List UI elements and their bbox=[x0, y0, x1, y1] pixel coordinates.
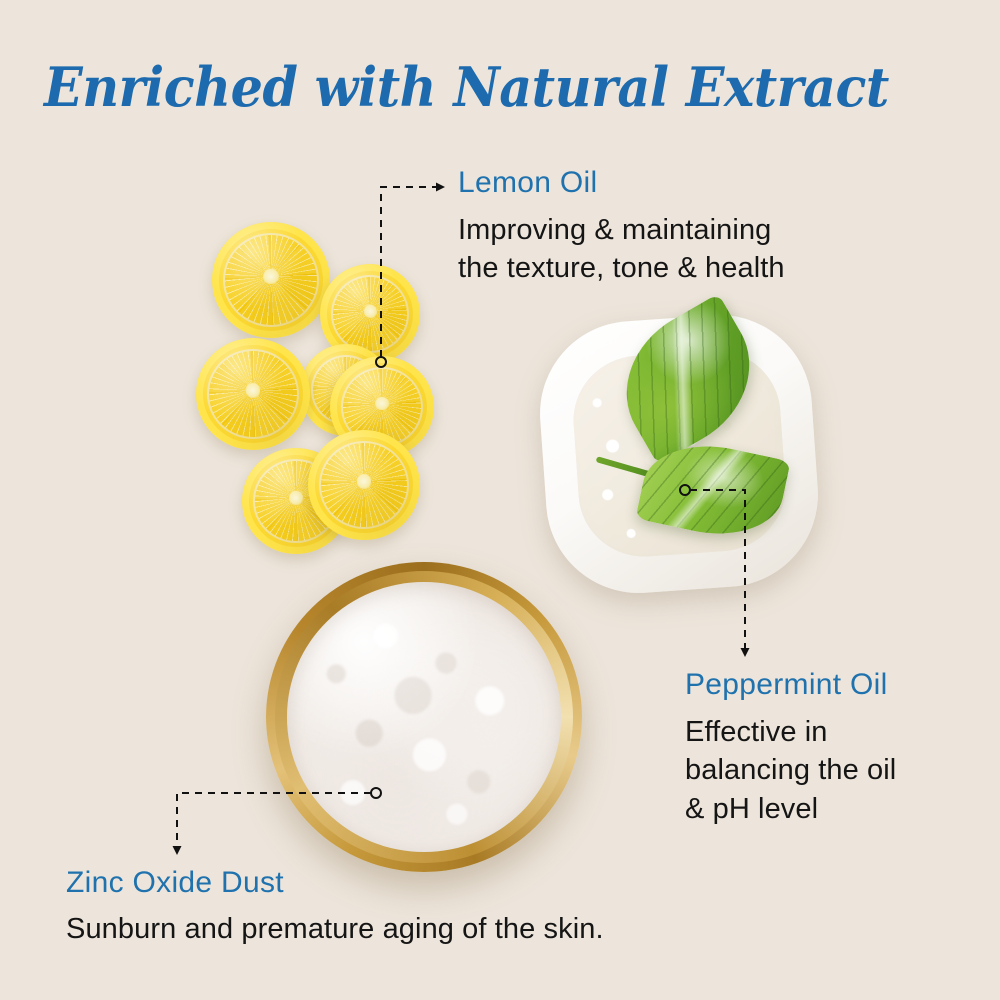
callout-body-line: balancing the oil bbox=[685, 751, 896, 789]
callout-body-line: & pH level bbox=[685, 790, 896, 828]
zinc-oxide-powder-bowl-image bbox=[266, 562, 582, 872]
callout-body-line: Effective in bbox=[685, 713, 896, 751]
callout-body-line: Improving & maintaining bbox=[458, 211, 785, 249]
callout-lemon-oil: Lemon Oil Improving & maintaining the te… bbox=[458, 166, 785, 288]
callout-zinc-oxide-dust: Zinc Oxide Dust Sunburn and premature ag… bbox=[66, 866, 604, 948]
page-title: Enriched with Natural Extract bbox=[44, 55, 758, 119]
callout-heading-peppermint-oil: Peppermint Oil bbox=[685, 668, 896, 701]
callout-heading-lemon-oil: Lemon Oil bbox=[458, 166, 785, 199]
lemon-slices-image bbox=[190, 212, 440, 582]
callout-body-peppermint-oil: Effective in balancing the oil & pH leve… bbox=[685, 713, 896, 828]
infographic-canvas: Enriched with Natural Extract Lemon Oil … bbox=[0, 0, 1000, 1000]
callout-body-line: Sunburn and premature aging of the skin. bbox=[66, 910, 604, 948]
lemon-slice bbox=[212, 222, 330, 338]
callout-peppermint-oil: Peppermint Oil Effective in balancing th… bbox=[685, 668, 896, 828]
lemon-slice bbox=[308, 430, 420, 540]
callout-body-line: the texture, tone & health bbox=[458, 249, 785, 287]
callout-body-zinc-oxide-dust: Sunburn and premature aging of the skin. bbox=[66, 910, 604, 948]
white-powder bbox=[287, 582, 562, 852]
callout-body-lemon-oil: Improving & maintaining the texture, ton… bbox=[458, 211, 785, 288]
lemon-slice bbox=[196, 338, 310, 450]
salt-bowl-with-leaves-image bbox=[543, 318, 815, 590]
callout-heading-zinc-oxide-dust: Zinc Oxide Dust bbox=[66, 866, 604, 899]
